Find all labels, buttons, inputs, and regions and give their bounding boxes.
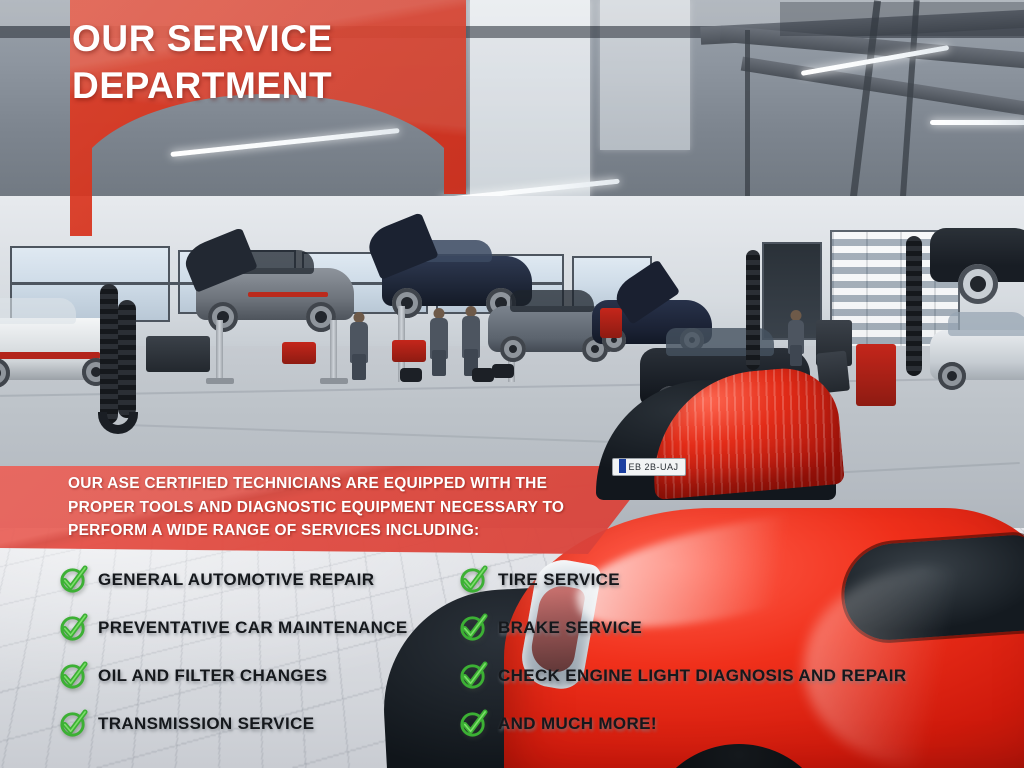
check-circle-icon (460, 616, 485, 641)
tool-cabinet (146, 336, 210, 372)
services-column-right: TIRE SERVICE BRAKE SERVICE CHECK ENGINE … (460, 556, 1020, 748)
car-glass (510, 290, 594, 312)
car-glass (948, 312, 1024, 336)
red-jack (392, 340, 426, 362)
vehicle-lift-base (206, 378, 234, 384)
exhaust-extraction-hose (118, 300, 136, 418)
list-item: TRANSMISSION SERVICE (60, 700, 460, 748)
car-wheel (958, 264, 998, 304)
list-item: GENERAL AUTOMOTIVE REPAIR (60, 556, 460, 604)
list-item: AND MUCH MORE! (460, 700, 1020, 748)
spare-tire (492, 364, 514, 378)
list-item: TIRE SERVICE (460, 556, 1020, 604)
services-column-left: GENERAL AUTOMOTIVE REPAIR PREVENTATIVE C… (60, 556, 460, 748)
plate-eu-band (619, 459, 626, 473)
technician (430, 308, 448, 376)
car-wheel (392, 288, 422, 318)
red-tool-cart (856, 344, 896, 406)
check-circle-icon (60, 664, 85, 689)
red-tool-cart (600, 308, 622, 338)
service-label: TIRE SERVICE (498, 570, 620, 590)
subtitle-line-3: PERFORM A WIDE RANGE OF SERVICES INCLUDI… (68, 519, 608, 543)
service-label: TRANSMISSION SERVICE (98, 714, 314, 734)
list-item: OIL AND FILTER CHANGES (60, 652, 460, 700)
subtitle-line-2: PROPER TOOLS AND DIAGNOSTIC EQUIPMENT NE… (68, 496, 608, 520)
technician-legs (352, 354, 366, 380)
technician-legs (790, 345, 802, 366)
service-label: GENERAL AUTOMOTIVE REPAIR (98, 570, 374, 590)
license-plate: EB 2B-UAJ (612, 458, 686, 476)
check-circle-icon (60, 712, 85, 737)
car-wheel (500, 336, 526, 362)
technician (350, 312, 368, 380)
title-line-2: DEPARTMENT (72, 63, 432, 110)
vehicle-lift-post (216, 320, 223, 382)
list-item: PREVENTATIVE CAR MAINTENANCE (60, 604, 460, 652)
spare-tire (472, 368, 494, 382)
car-taillight-bar (0, 352, 100, 359)
car-windshield (0, 298, 76, 324)
car-suv-raised (930, 228, 1024, 282)
page-title: OUR SERVICE DEPARTMENT (72, 16, 432, 109)
vehicle-lift-base (320, 378, 348, 384)
car-wheel (208, 302, 238, 332)
exhaust-extraction-hose (906, 236, 922, 376)
exhaust-extraction-hose (746, 250, 760, 370)
check-circle-icon (60, 568, 85, 593)
check-circle-icon (60, 616, 85, 641)
exhaust-extraction-hose (100, 284, 118, 424)
ceiling-duct (780, 2, 1024, 36)
plate-number: EB 2B-UAJ (628, 462, 678, 472)
services-checklist: GENERAL AUTOMOTIVE REPAIR PREVENTATIVE C… (0, 556, 1024, 756)
strip-light (930, 120, 1024, 125)
technician-legs (432, 350, 446, 376)
service-label: OIL AND FILTER CHANGES (98, 666, 327, 686)
car-wheel (938, 362, 966, 390)
technician (462, 306, 480, 376)
spare-tire (400, 368, 422, 382)
vehicle-lift-post (330, 320, 337, 382)
service-department-poster: EB 2B-UAJ OUR SERVICE DEPARTMENT OUR ASE… (0, 0, 1024, 768)
car-taillight-bar (248, 292, 328, 297)
car-grey-on-lift (196, 268, 354, 320)
car-silver-right (930, 330, 1024, 380)
title-line-1: OUR SERVICE (72, 16, 432, 63)
service-label: BRAKE SERVICE (498, 618, 642, 638)
subtitle-line-1: OUR ASE CERTIFIED TECHNICIANS ARE EQUIPP… (68, 472, 608, 496)
service-label: PREVENTATIVE CAR MAINTENANCE (98, 618, 408, 638)
check-circle-icon (460, 664, 485, 689)
service-label: AND MUCH MORE! (498, 714, 657, 734)
technician (788, 310, 804, 366)
subtitle-text: OUR ASE CERTIFIED TECHNICIANS ARE EQUIPP… (68, 472, 608, 543)
red-jack (282, 342, 316, 364)
list-item: CHECK ENGINE LIGHT DIAGNOSIS AND REPAIR (460, 652, 1020, 700)
check-circle-icon (460, 712, 485, 737)
list-item: BRAKE SERVICE (460, 604, 1020, 652)
service-label: CHECK ENGINE LIGHT DIAGNOSIS AND REPAIR (498, 666, 906, 686)
check-circle-icon (460, 568, 485, 593)
ceiling-beam (741, 57, 1024, 118)
